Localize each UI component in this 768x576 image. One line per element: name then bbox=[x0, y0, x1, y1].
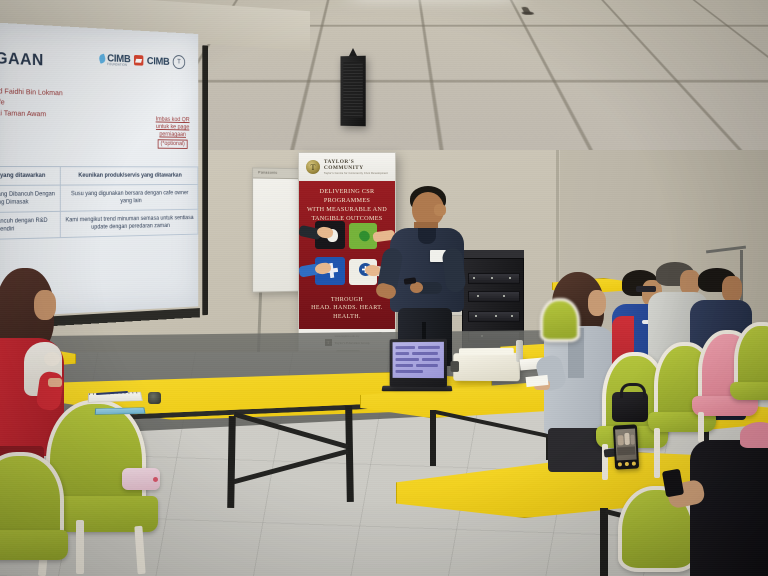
slide-line-4: an: Tepian Sungai Taman Awam bbox=[0, 107, 46, 118]
taylors-circle-logo-icon: T bbox=[173, 55, 185, 69]
face-profile bbox=[722, 276, 742, 302]
face-profile bbox=[434, 204, 446, 216]
cimb-square-icon bbox=[134, 55, 143, 66]
projector-lens bbox=[450, 361, 459, 372]
slide-line-3: Official Street Cafe bbox=[0, 96, 5, 107]
chair-audience-green-3[interactable] bbox=[730, 322, 768, 420]
qr-note-line-3: perniagaan bbox=[159, 131, 186, 138]
banner-org-name: TAYLOR'S COMMUNITY bbox=[324, 159, 395, 171]
wall-speaker bbox=[340, 56, 365, 127]
banner-org-tagline: Taylor's Centre for Community Civic Deve… bbox=[324, 172, 395, 175]
person-attendee-foreground-right bbox=[672, 440, 768, 576]
handbag bbox=[612, 392, 648, 422]
screen-right-border bbox=[202, 45, 208, 315]
banner-footer-line-1: THROUGH bbox=[331, 297, 363, 303]
leaf-icon bbox=[98, 54, 106, 64]
jacket-logo-patch bbox=[44, 352, 60, 366]
table-leg bbox=[600, 508, 608, 576]
chair-leg bbox=[76, 520, 84, 574]
pink-headwear bbox=[740, 422, 768, 448]
table-row: Non Coffee di bancuh dengan R&D tersendi… bbox=[0, 209, 198, 240]
chair-leg bbox=[134, 526, 145, 574]
person-presenter bbox=[378, 186, 474, 364]
face-profile bbox=[34, 290, 56, 320]
chair-leg bbox=[654, 428, 660, 460]
data-projector bbox=[453, 353, 520, 381]
chair-seat[interactable] bbox=[730, 382, 768, 400]
table-cross-brace bbox=[234, 412, 349, 449]
phone-camera-controls[interactable] bbox=[617, 460, 637, 467]
qr-note-optional: (*optional) bbox=[158, 139, 187, 149]
chair-leg bbox=[698, 412, 704, 442]
slide-table: Produk/Servis yang ditawarkan Keunikan p… bbox=[0, 166, 198, 241]
table-header-cell: Produk/Servis yang ditawarkan bbox=[0, 166, 61, 185]
table-header-row: Produk/Servis yang ditawarkan Keunikan p… bbox=[0, 166, 198, 185]
qr-note-line-2: untuk ke page bbox=[156, 123, 189, 130]
table-cell: Susu yang digunakan bersara dengan cafe … bbox=[61, 184, 198, 211]
banner-footer-line-2: HEAD. HANDS. HEART. HEALTH. bbox=[311, 305, 383, 320]
laptop-lid[interactable] bbox=[390, 339, 447, 388]
rubber-stamp bbox=[148, 392, 161, 404]
phone-screen[interactable] bbox=[615, 429, 637, 461]
cimb-foundation-logo: CIMB FOUNDATION bbox=[99, 52, 130, 67]
table-cell: Kami mengikut trend minuman semasa untuk… bbox=[61, 209, 198, 237]
slide-qr-note: Imbas kod QR untuk ke page perniagaan (*… bbox=[147, 116, 199, 149]
smartphone-recording[interactable] bbox=[613, 424, 639, 469]
chair-left-edge-green[interactable] bbox=[0, 452, 70, 576]
card-holder bbox=[95, 407, 146, 414]
projected-slide: ERNIAGAAN CIMB FOUNDATION CIMB T an anda… bbox=[0, 38, 198, 272]
shirt-collar bbox=[418, 228, 436, 244]
taylors-seal-icon: T bbox=[306, 160, 320, 174]
banner-headline-line-1: DELIVERING CSR PROGRAMMES bbox=[320, 188, 375, 204]
laptop-screen[interactable] bbox=[393, 342, 444, 378]
sprinkler-head bbox=[521, 7, 531, 14]
cimb-foundation-subtext: FOUNDATION bbox=[107, 62, 130, 67]
chair-back[interactable] bbox=[540, 298, 580, 342]
banner-header: T TAYLOR'S COMMUNITY Taylor's Centre for… bbox=[299, 153, 395, 181]
table-header-cell: Keunikan produk/servis yang ditawarkan bbox=[61, 167, 198, 185]
face-profile bbox=[588, 290, 606, 316]
table-cell: Coldbrew Coffee Yang Dibancuh Dengan Sus… bbox=[0, 185, 61, 213]
seminar-room-photo: ERNIAGAAN CIMB FOUNDATION CIMB T an anda… bbox=[0, 0, 768, 576]
table-cross-brace bbox=[233, 449, 348, 484]
pink-pouch bbox=[122, 468, 160, 490]
qr-note-line-1: Imbas kod QR bbox=[156, 116, 190, 123]
phone-in-hand bbox=[662, 469, 684, 498]
table-leg bbox=[227, 416, 236, 508]
banner-headline-line-2: WITH MEASURABLE AND bbox=[307, 206, 387, 213]
hand bbox=[48, 378, 62, 387]
flipchart-brand-label: Panasonic bbox=[258, 170, 277, 174]
slide-line-2: serta: Muhammad Faidhi Bin Lokman bbox=[0, 85, 63, 98]
table-leg bbox=[430, 410, 436, 466]
slide-logo-row: CIMB FOUNDATION CIMB T bbox=[99, 51, 185, 69]
torso-black bbox=[690, 440, 768, 576]
table-cell: Non Coffee di bancuh dengan R&D tersendi… bbox=[0, 211, 61, 240]
cimb-wordmark: CIMB bbox=[147, 55, 170, 67]
slide-title: ERNIAGAAN bbox=[0, 46, 44, 70]
chair-back-row[interactable] bbox=[536, 298, 582, 354]
chair-seat[interactable] bbox=[0, 530, 68, 560]
